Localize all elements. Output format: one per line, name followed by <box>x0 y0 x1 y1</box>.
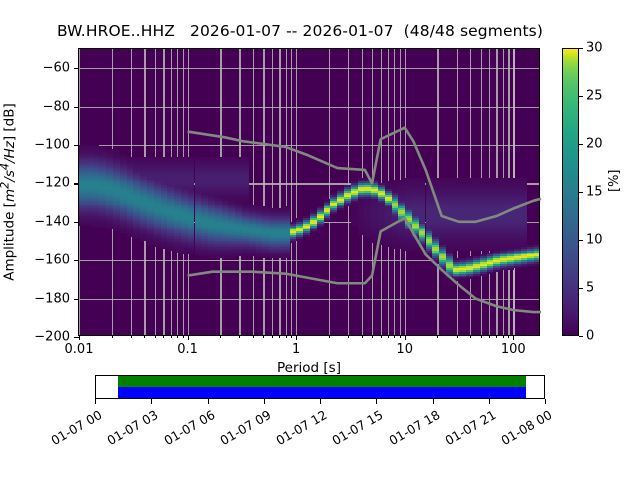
x-tick-minor <box>171 335 172 338</box>
x-tick-major <box>513 335 514 340</box>
x-tick-label: 10 <box>396 342 413 357</box>
timeline-tick <box>151 399 152 404</box>
colorbar-tick-label: 20 <box>586 137 603 152</box>
y-tick-label: −80 <box>43 99 70 114</box>
colorbar-tick <box>579 192 583 193</box>
x-tick-label: 100 <box>501 342 526 357</box>
colorbar-tick <box>579 240 583 241</box>
x-tick-minor <box>263 335 264 338</box>
y-tick-label: −120 <box>34 176 70 191</box>
timeline-tick <box>320 399 321 404</box>
noise-model-curves <box>79 49 541 337</box>
figure-title: BW.HROE..HHZ 2026-01-07 -- 2026-01-07 (4… <box>0 22 600 40</box>
x-axis-label: Period [s] <box>78 360 540 376</box>
x-tick-minor <box>437 335 438 338</box>
y-tick <box>74 145 79 146</box>
x-tick-minor <box>329 335 330 338</box>
y-tick-label: −160 <box>34 253 70 268</box>
ppsd-axes: −60−80−100−120−140−160−180−200 0.010.111… <box>78 48 540 336</box>
y-tick-label: −60 <box>43 61 70 76</box>
timeline-tick <box>95 399 96 404</box>
x-tick-label: 0.1 <box>177 342 198 357</box>
x-tick-label: 1 <box>292 342 300 357</box>
x-tick-minor <box>272 335 273 338</box>
x-tick-major <box>79 335 80 340</box>
x-tick-minor <box>177 335 178 338</box>
x-tick-minor <box>394 335 395 338</box>
y-tick-label: −100 <box>34 138 70 153</box>
timeline-tick <box>545 399 546 404</box>
x-tick-minor <box>372 335 373 338</box>
x-tick-minor <box>155 335 156 338</box>
colorbar-tick <box>579 48 583 49</box>
timeline-segment-data-coverage[interactable] <box>118 376 526 387</box>
x-tick-minor <box>362 335 363 338</box>
colorbar <box>562 48 579 336</box>
colorbar-tick-label: 30 <box>586 41 603 56</box>
y-tick <box>74 68 79 69</box>
nlnm-curve <box>188 218 541 312</box>
x-tick-minor <box>381 335 382 338</box>
x-tick-minor <box>131 335 132 338</box>
timeline-tick-label: 01-07 09 <box>212 407 273 451</box>
colorbar-tick-label: 15 <box>586 185 603 200</box>
timeline-segment-psd-segments[interactable] <box>118 387 526 398</box>
x-tick-minor <box>112 335 113 338</box>
y-axis-label: Amplitude [m2/s4/Hz] [dB] <box>0 48 18 336</box>
x-tick-minor <box>163 335 164 338</box>
timeline-tick-label: 01-07 00 <box>43 407 104 451</box>
timeline-tick <box>376 399 377 404</box>
timeline-tick-label: 01-07 18 <box>381 407 442 451</box>
y-tick-label: −140 <box>34 214 70 229</box>
x-tick-minor <box>400 335 401 338</box>
y-tick <box>74 107 79 108</box>
y-tick <box>74 183 79 184</box>
x-tick-major <box>188 335 189 340</box>
x-tick-minor <box>388 335 389 338</box>
x-tick-minor <box>457 335 458 338</box>
timeline-tick <box>489 399 490 404</box>
y-tick-label: −180 <box>34 291 70 306</box>
x-tick-minor <box>286 335 287 338</box>
x-tick-minor <box>239 335 240 338</box>
colorbar-tick-label: 25 <box>586 89 603 104</box>
colorbar-tick <box>579 144 583 145</box>
x-tick-minor <box>220 335 221 338</box>
timeline-tick-label: 01-08 00 <box>493 407 554 451</box>
timeline-tick-label: 01-07 03 <box>100 407 161 451</box>
nhnm-curve <box>188 128 541 222</box>
x-tick-minor <box>481 335 482 338</box>
y-tick <box>74 222 79 223</box>
colorbar-tick <box>579 336 583 337</box>
x-tick-minor <box>291 335 292 338</box>
y-tick <box>74 260 79 261</box>
x-tick-minor <box>496 335 497 338</box>
timeline-tick <box>208 399 209 404</box>
x-tick-minor <box>183 335 184 338</box>
x-tick-minor <box>503 335 504 338</box>
timeline-tick-label: 01-07 06 <box>156 407 217 451</box>
x-tick-minor <box>144 335 145 338</box>
ppsd-figure: BW.HROE..HHZ 2026-01-07 -- 2026-01-07 (4… <box>0 0 640 480</box>
x-tick-label: 0.01 <box>65 342 94 357</box>
colorbar-tick-label: 10 <box>586 233 603 248</box>
colorbar-tick-label: 5 <box>586 281 594 296</box>
x-tick-major <box>405 335 406 340</box>
colorbar-tick <box>579 288 583 289</box>
x-tick-minor <box>279 335 280 338</box>
colorbar-tick-label: 0 <box>586 329 594 344</box>
y-tick <box>74 299 79 300</box>
colorbar-tick <box>579 96 583 97</box>
timeline-tick <box>433 399 434 404</box>
timeline-tick-label: 01-07 12 <box>268 407 329 451</box>
x-tick-minor <box>489 335 490 338</box>
timeline-tick-label: 01-07 21 <box>437 407 498 451</box>
timeline-tick-label: 01-07 15 <box>325 407 386 451</box>
data-coverage-timeline[interactable] <box>95 375 545 399</box>
x-tick-minor <box>508 335 509 338</box>
x-tick-major <box>296 335 297 340</box>
timeline-tick <box>264 399 265 404</box>
colorbar-label: [%] <box>607 170 622 193</box>
x-tick-minor <box>348 335 349 338</box>
x-tick-minor <box>470 335 471 338</box>
x-tick-minor <box>253 335 254 338</box>
